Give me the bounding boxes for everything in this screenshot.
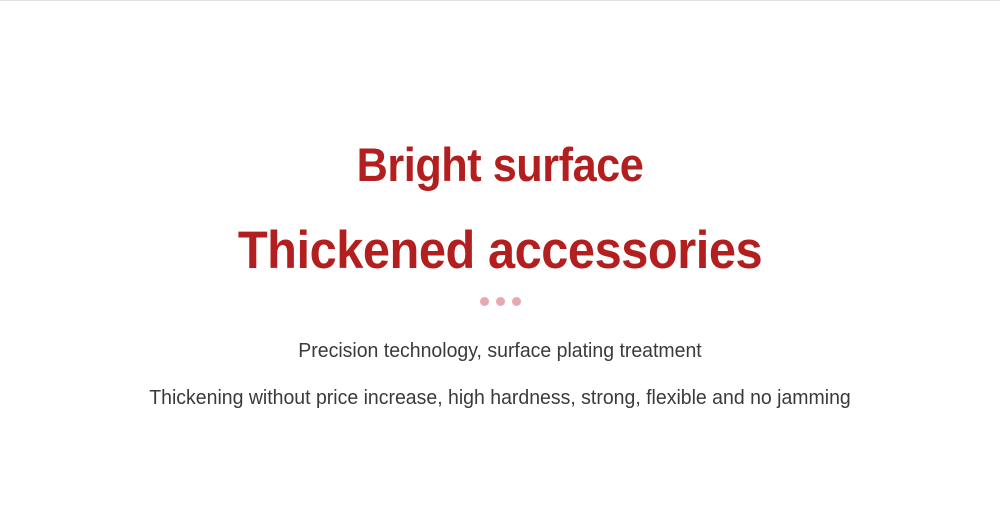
headline-line-1: Bright surface	[40, 141, 960, 188]
subtitle-group: Precision technology, surface plating tr…	[0, 341, 1000, 408]
promo-banner: Bright surface Thickened accessories Pre…	[0, 0, 1000, 518]
separator-dot-icon	[496, 297, 505, 306]
headline-line-2: Thickened accessories	[40, 224, 960, 277]
subtitle-line-2: Thickening without price increase, high …	[25, 388, 975, 409]
separator-dot-icon	[512, 297, 521, 306]
headline-group: Bright surface Thickened accessories	[0, 141, 1000, 277]
subtitle-line-1: Precision technology, surface plating tr…	[25, 341, 975, 362]
dot-separator	[0, 297, 1000, 306]
separator-dot-icon	[480, 297, 489, 306]
